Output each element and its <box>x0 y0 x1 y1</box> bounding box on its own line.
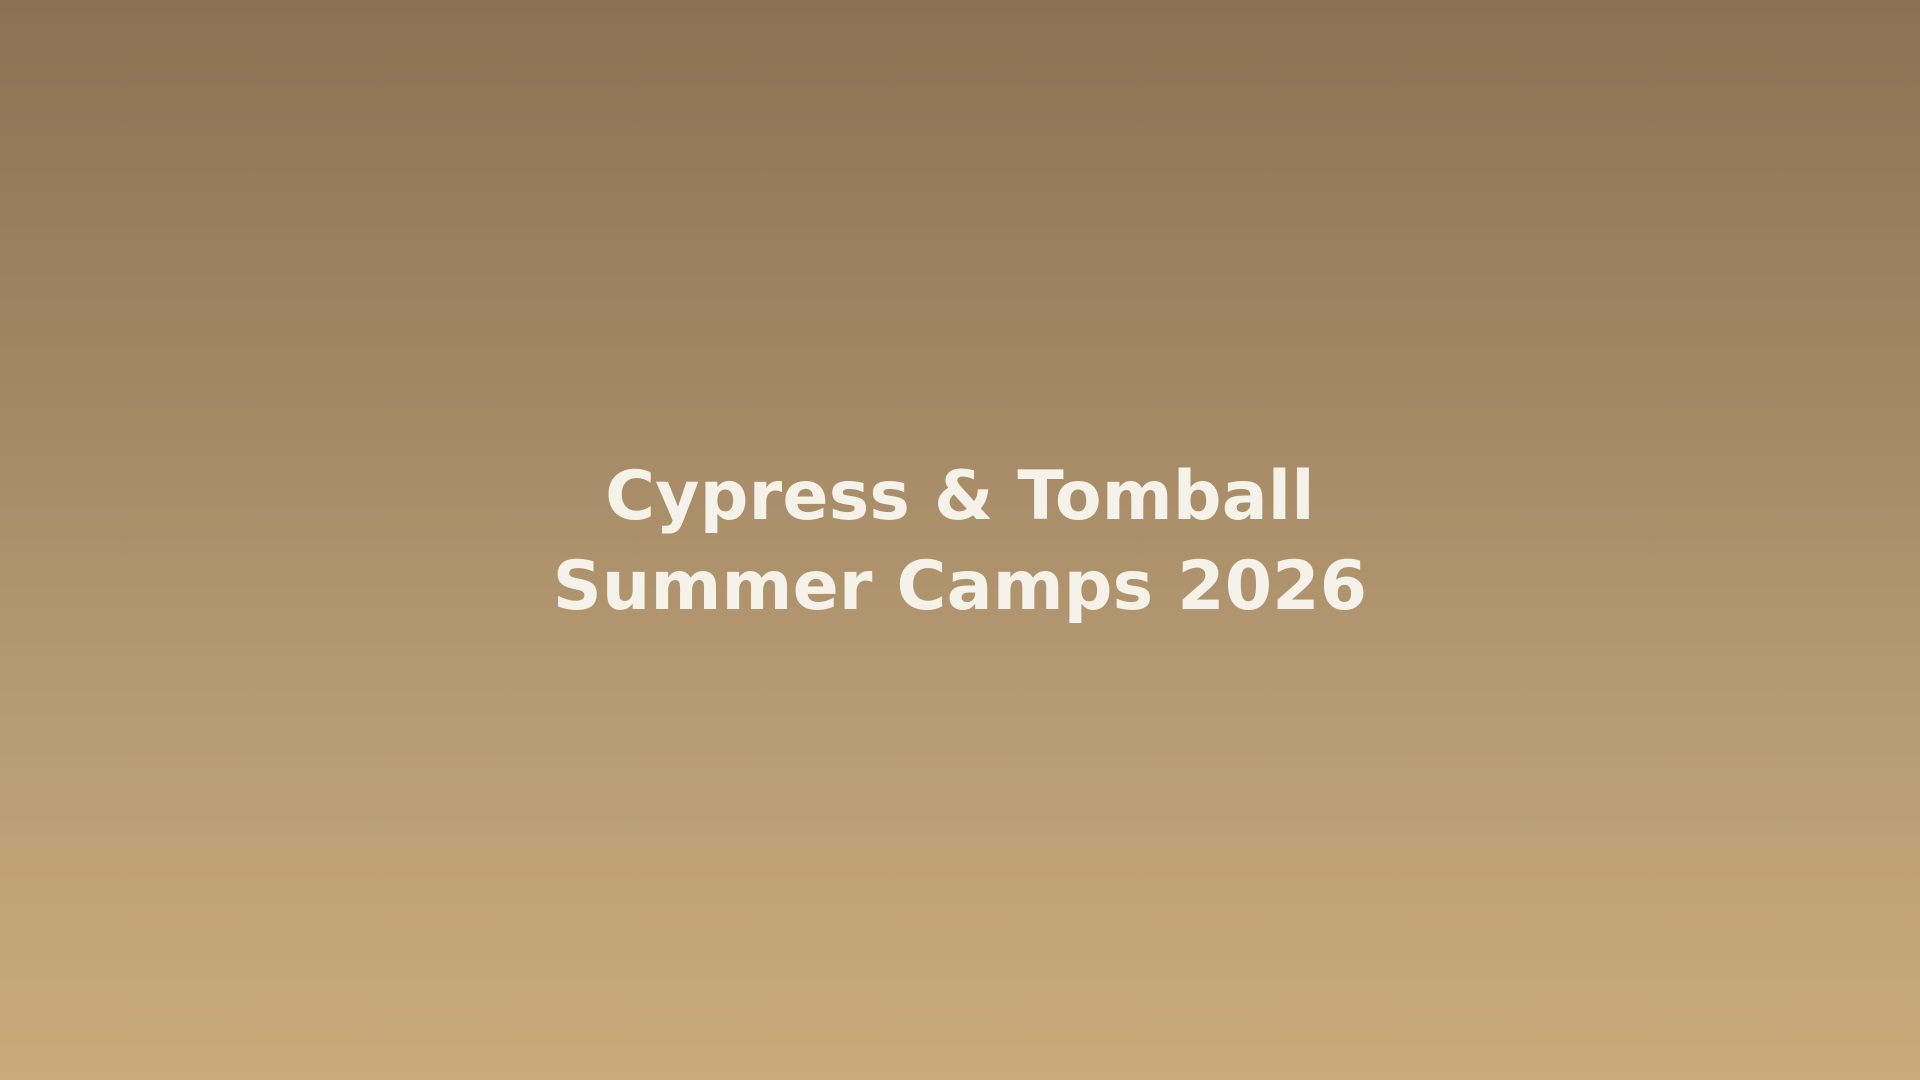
page-title-line-2: Summer Camps 2026 <box>80 542 1840 632</box>
title-block: Cypress & Tomball Summer Camps 2026 <box>0 452 1920 632</box>
slide-canvas: Cypress & Tomball Summer Camps 2026 <box>0 0 1920 1080</box>
page-title-line-1: Cypress & Tomball <box>80 452 1840 542</box>
